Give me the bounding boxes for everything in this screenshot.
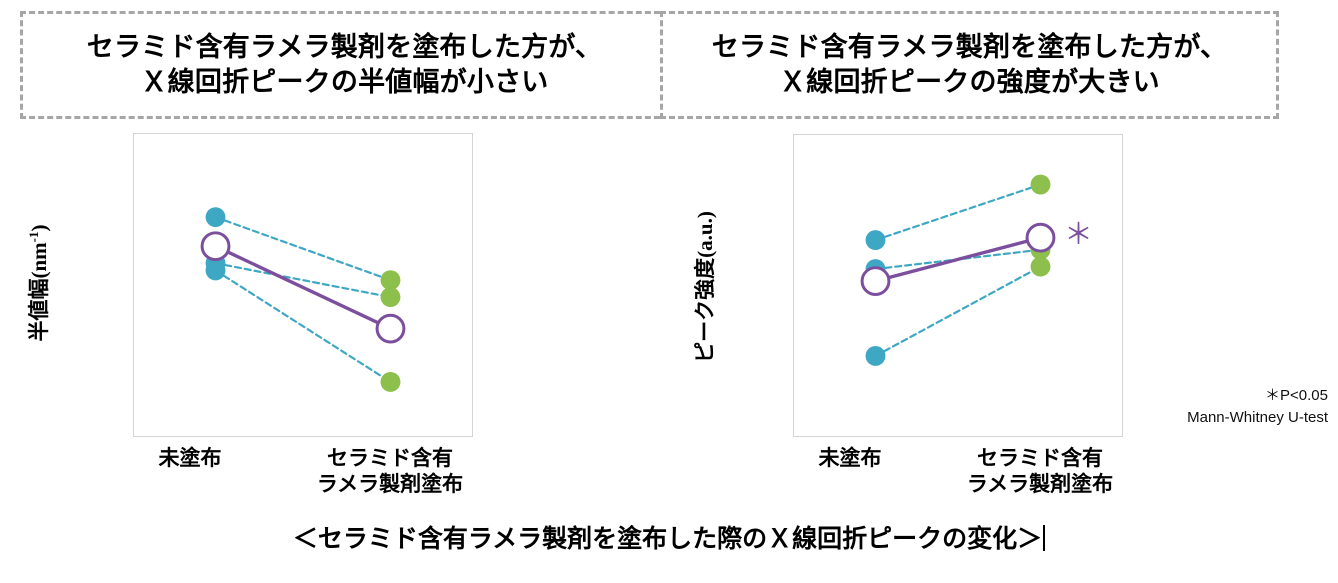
subject-connector-line-2 bbox=[216, 263, 391, 297]
subject-connector-line-1 bbox=[216, 217, 391, 280]
title-left-line-1: セラミド含有ラメラ製剤を塗布した方が、 bbox=[87, 30, 602, 65]
title-left-text: セラミド含有ラメラ製剤を塗布した方が、 Ｘ線回折ピークの半値幅が小さい bbox=[87, 30, 602, 100]
y-axis-label-text-right: ピーク強度(a.u.) bbox=[693, 211, 717, 363]
mean-line bbox=[876, 238, 1041, 281]
x-tick-label-line-1: セラミド含有 bbox=[950, 446, 1130, 472]
data-point-before-3 bbox=[866, 346, 886, 366]
figure-caption-text: ＜セラミド含有ラメラ製剤を塗布した際のＸ線回折ピークの変化＞ bbox=[293, 525, 1042, 553]
chart-left-y-axis-label: 半値幅(nm-1) bbox=[23, 188, 53, 378]
x-tick-label-line-1: セラミド含有 bbox=[300, 446, 480, 472]
x-tick-label-text: 未塗布 bbox=[819, 447, 882, 470]
significance-asterisk-icon: ＊ bbox=[1064, 220, 1093, 249]
data-point-after-3 bbox=[1031, 257, 1051, 277]
mean-marker-before bbox=[202, 233, 229, 260]
chart-right-canvas bbox=[794, 135, 1122, 436]
x-tick-label-line-2: ラメラ製剤塗布 bbox=[950, 472, 1130, 498]
chart-right-y-axis-label: ピーク強度(a.u.) bbox=[689, 187, 719, 387]
title-box-left: セラミド含有ラメラ製剤を塗布した方が、 Ｘ線回折ピークの半値幅が小さい bbox=[20, 11, 669, 119]
statistics-note: ＊P<0.05 Mann-Whitney U-test bbox=[1100, 385, 1328, 429]
chart-left-canvas bbox=[134, 134, 472, 436]
chart-right-x-tick-treated: セラミド含有 ラメラ製剤塗布 bbox=[950, 446, 1130, 497]
mean-marker-after bbox=[377, 315, 404, 342]
chart-left-plot-area bbox=[133, 133, 473, 437]
subject-connector-line-1 bbox=[876, 185, 1041, 241]
data-point-after-2 bbox=[381, 287, 401, 307]
data-point-before-3 bbox=[206, 261, 226, 281]
title-right-line-1: セラミド含有ラメラ製剤を塗布した方が、 bbox=[712, 30, 1227, 65]
mean-marker-after bbox=[1027, 224, 1054, 251]
chart-right-x-tick-untreated: 未塗布 bbox=[790, 446, 910, 472]
x-tick-label-text: 未塗布 bbox=[159, 447, 222, 470]
mean-marker-before bbox=[862, 268, 889, 295]
data-point-after-3 bbox=[381, 372, 401, 392]
chart-right-svg bbox=[794, 135, 1122, 436]
chart-right-plot-area bbox=[793, 134, 1123, 437]
y-axis-label-text-left: 半値幅(nm-1) bbox=[27, 225, 51, 342]
title-right-text: セラミド含有ラメラ製剤を塗布した方が、 Ｘ線回折ピークの強度が大きい bbox=[712, 30, 1227, 100]
title-right-line-2: Ｘ線回折ピークの強度が大きい bbox=[712, 65, 1227, 100]
chart-left-svg bbox=[134, 134, 472, 436]
data-point-after-1 bbox=[1031, 175, 1051, 195]
figure-caption: ＜セラミド含有ラメラ製剤を塗布した際のＸ線回折ピークの変化＞ bbox=[0, 519, 1338, 555]
chart-left-x-tick-treated: セラミド含有 ラメラ製剤塗布 bbox=[300, 446, 480, 497]
title-box-right: セラミド含有ラメラ製剤を塗布した方が、 Ｘ線回折ピークの強度が大きい bbox=[660, 11, 1279, 119]
data-point-before-1 bbox=[206, 207, 226, 227]
subject-connector-line-3 bbox=[876, 267, 1041, 356]
title-left-line-2: Ｘ線回折ピークの半値幅が小さい bbox=[87, 65, 602, 100]
stats-note-pvalue: ＊P<0.05 bbox=[1100, 385, 1328, 407]
text-cursor bbox=[1043, 525, 1045, 551]
slide-canvas: セラミド含有ラメラ製剤を塗布した方が、 Ｘ線回折ピークの半値幅が小さい セラミド… bbox=[0, 0, 1338, 583]
x-tick-label-line-2: ラメラ製剤塗布 bbox=[300, 472, 480, 498]
chart-left-x-tick-untreated: 未塗布 bbox=[130, 446, 250, 472]
stats-note-test: Mann-Whitney U-test bbox=[1100, 407, 1328, 429]
data-point-after-1 bbox=[381, 270, 401, 290]
data-point-before-1 bbox=[866, 230, 886, 250]
